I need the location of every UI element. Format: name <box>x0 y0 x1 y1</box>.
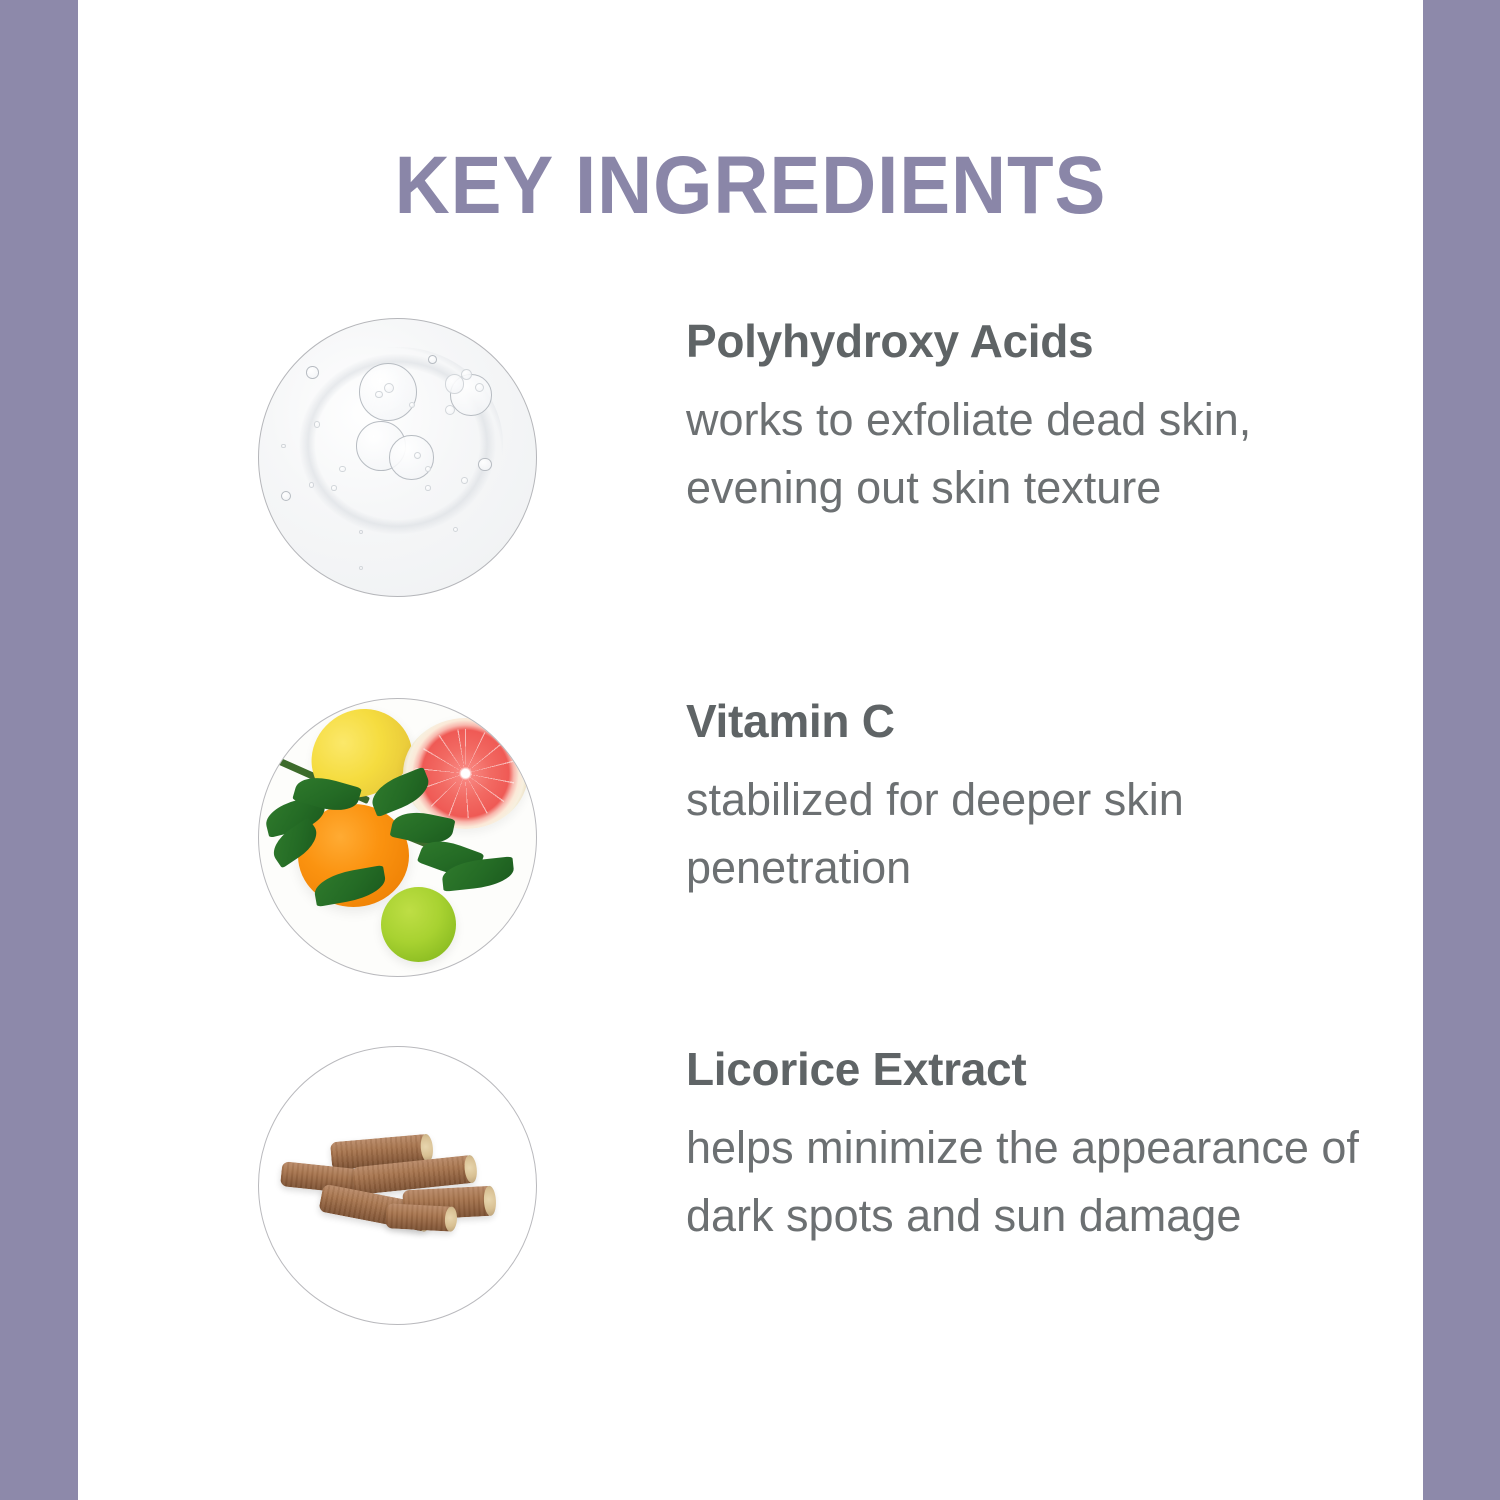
ingredient-text-block: Vitamin C stabilized for deeper skin pen… <box>686 698 1423 903</box>
right-purple-band <box>1423 0 1500 1500</box>
ingredient-text-block: Licorice Extract helps minimize the appe… <box>686 1046 1423 1251</box>
citrus-fruit-icon <box>258 698 537 977</box>
ingredient-description: helps minimize the appearance of dark sp… <box>686 1114 1366 1251</box>
ingredients-infographic: KEY INGREDIENTS <box>0 0 1500 1500</box>
left-purple-band <box>0 0 78 1500</box>
ingredient-thumbnail-wrap <box>258 1046 537 1325</box>
gel-droplet-icon <box>258 318 537 597</box>
ingredient-text-block: Polyhydroxy Acids works to exfoliate dea… <box>686 318 1423 523</box>
page-title: KEY INGREDIENTS <box>125 145 1376 227</box>
ingredient-thumbnail-wrap <box>258 698 537 977</box>
ingredient-description: works to exfoliate dead skin, evening ou… <box>686 386 1346 523</box>
ingredient-thumbnail-wrap <box>258 318 537 597</box>
licorice-root-icon <box>258 1046 537 1325</box>
ingredient-name: Licorice Extract <box>686 1046 1423 1092</box>
lime <box>381 887 456 962</box>
ingredient-name: Polyhydroxy Acids <box>686 318 1423 364</box>
ingredient-name: Vitamin C <box>686 698 1423 744</box>
ingredient-description: stabilized for deeper skin penetration <box>686 766 1346 903</box>
content-area: KEY INGREDIENTS <box>78 0 1423 1500</box>
ingredient-row: Polyhydroxy Acids works to exfoliate dea… <box>78 318 1423 618</box>
ingredient-row: Licorice Extract helps minimize the appe… <box>78 1046 1423 1346</box>
ingredient-row: Vitamin C stabilized for deeper skin pen… <box>78 698 1423 998</box>
